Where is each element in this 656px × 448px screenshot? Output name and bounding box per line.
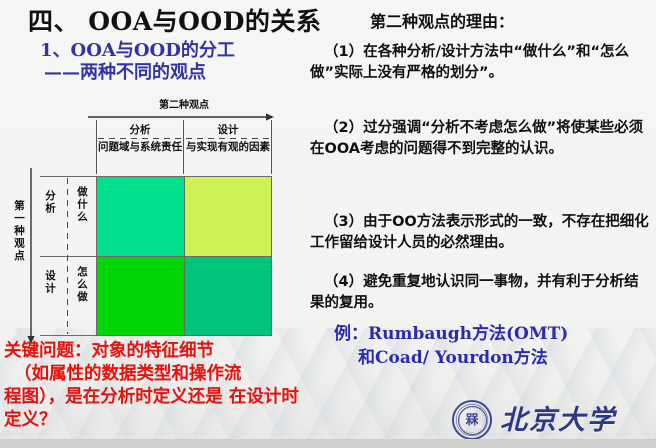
peking-university-seal-icon: 槑 bbox=[452, 400, 492, 440]
subtitle-line-1: 1、OOA与OOD的分工 bbox=[40, 40, 235, 61]
column-head-design: 设计 bbox=[184, 122, 272, 137]
key-question-block: 关键问题：对象的特征细节 （如属性的数据类型和操作流 程图），是在分析时定义还是… bbox=[4, 340, 304, 432]
quadrant-cell-bottom-right[interactable] bbox=[184, 256, 271, 335]
reason-1: （1）在各种分析/设计方法中“做什么”和“怎么做”实际上没有严格的划分”。 bbox=[310, 42, 652, 83]
diagram-left-axis-label: 第一种观点 bbox=[2, 200, 24, 263]
reason-2: （2）过分强调“分析不考虑怎么做”将使某些必须在OOA考虑的问题得不到完整的认识… bbox=[310, 118, 652, 159]
reason-4: （4）避免重复地认识同一事物，并有利于分析结果的复用。 bbox=[310, 272, 652, 313]
row-dashed-divider bbox=[67, 178, 68, 334]
row-inner-what: 做什么 bbox=[76, 186, 87, 252]
page-title: 四、 OOA与OOD的关系 bbox=[28, 2, 321, 38]
header-dashed-divider bbox=[98, 138, 270, 139]
column-head-analysis: 分析 bbox=[96, 122, 184, 137]
reason-3: （3）由于OO方法表示形式的一致，不存在把细化工作留给设计人员的必然理由。 bbox=[310, 212, 652, 253]
key-question-line-3: 程图），是在分析时定义还是 bbox=[4, 387, 223, 407]
example-line-2: 和Coad/ Yourdon方法 bbox=[358, 346, 654, 370]
row-outer-analysis: 分析 bbox=[44, 190, 55, 250]
subtitle-line-2: ——两种不同的观点 bbox=[44, 62, 235, 84]
quadrant-cell-bottom-left[interactable] bbox=[97, 256, 184, 335]
quadrant-grid bbox=[96, 176, 272, 336]
key-question-line-1: 关键问题：对象的特征细节 bbox=[4, 341, 214, 361]
bottom-bar bbox=[0, 439, 656, 448]
example-block: 例：Rumbaugh方法(OMT) 和Coad/ Yourdon方法 bbox=[334, 322, 654, 370]
university-name: 北京大学 bbox=[500, 398, 616, 437]
key-question-line-2: （如属性的数据类型和操作流 bbox=[4, 363, 304, 386]
right-heading: 第二种观点的理由： bbox=[370, 8, 514, 32]
diagram-row-headers: 分析 设计 做什么 怎么做 bbox=[40, 176, 96, 336]
university-logo: 槑 北京大学 bbox=[452, 396, 652, 444]
slide-canvas: 四、 OOA与OOD的关系 1、OOA与OOD的分工 ——两种不同的观点 第二种… bbox=[0, 0, 656, 448]
column-sub-analysis: 问题域与系统责任 bbox=[96, 141, 184, 154]
example-line-1: 例：Rumbaugh方法(OMT) bbox=[334, 324, 568, 344]
quadrant-diagram: 第二种观点 第一种观点 分析 设计 问题域与系统责任 与实现有观的因素 分析 设… bbox=[0, 96, 300, 346]
seal-ring-icon bbox=[454, 402, 490, 438]
left-axis-arrow-icon bbox=[26, 168, 36, 344]
quadrant-cell-top-right[interactable] bbox=[184, 177, 271, 256]
right-column: 第二种观点的理由： （1）在各种分析/设计方法中“做什么”和“怎么做”实际上没有… bbox=[300, 0, 656, 448]
section-subtitle: 1、OOA与OOD的分工 ——两种不同的观点 bbox=[40, 40, 235, 84]
diagram-top-axis-label: 第二种观点 bbox=[96, 96, 272, 111]
row-inner-how: 怎么做 bbox=[76, 266, 87, 332]
quadrant-cell-top-left[interactable] bbox=[97, 177, 184, 256]
column-sub-design: 与实现有观的因素 bbox=[184, 141, 272, 154]
row-outer-design: 设计 bbox=[44, 270, 55, 330]
